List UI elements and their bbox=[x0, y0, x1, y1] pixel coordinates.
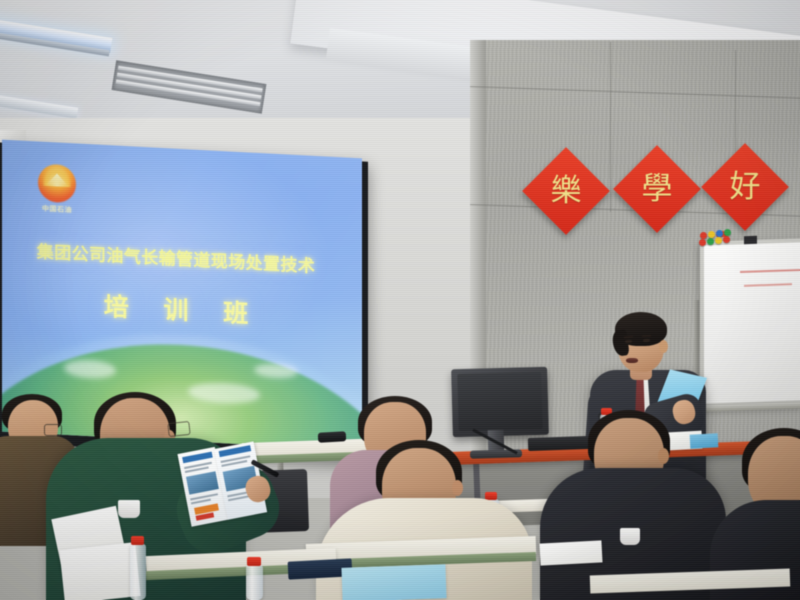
magnet-icon bbox=[723, 236, 730, 243]
attendee-ear bbox=[452, 480, 463, 496]
conference-room-photo: 中国石油 集团公司油气长输管道现场处置技术 培 训 班 樂 學 好 bbox=[0, 0, 800, 600]
glasses-icon bbox=[44, 424, 62, 436]
magnet-icon bbox=[699, 239, 706, 246]
papers bbox=[539, 540, 602, 565]
wall-placard: 學 bbox=[613, 145, 701, 233]
wall-seam-vertical bbox=[610, 42, 611, 212]
magnet-icon bbox=[724, 229, 731, 236]
wall-placard-char: 樂 bbox=[535, 160, 597, 222]
magnet-icon bbox=[708, 231, 715, 238]
wall-placard: 好 bbox=[701, 143, 789, 231]
bottle-cap bbox=[247, 557, 261, 566]
phone-on-desk[interactable] bbox=[318, 431, 346, 442]
wall-placard: 樂 bbox=[522, 147, 610, 235]
papers bbox=[59, 542, 140, 600]
whiteboard bbox=[704, 242, 800, 403]
bottle-cap bbox=[131, 536, 144, 545]
glasses-icon bbox=[167, 421, 190, 437]
wall-placard-char: 好 bbox=[714, 156, 776, 218]
magnet-icon bbox=[700, 232, 707, 239]
attendee-ear bbox=[658, 448, 669, 464]
blue-folder-on-podium bbox=[690, 433, 719, 448]
magnet-icon bbox=[716, 230, 723, 237]
magnet-icon bbox=[715, 237, 722, 244]
monitor-back-panel bbox=[457, 372, 542, 431]
wall-column bbox=[470, 40, 486, 510]
cup[interactable] bbox=[620, 528, 640, 545]
water-bottle[interactable] bbox=[130, 544, 146, 600]
wall-placard-char: 學 bbox=[626, 158, 688, 220]
cup[interactable] bbox=[118, 500, 140, 518]
water-bottle[interactable] bbox=[246, 565, 263, 600]
presenter-ear bbox=[659, 340, 668, 353]
whiteboard-clip bbox=[744, 236, 757, 244]
magnet-icon bbox=[707, 238, 714, 245]
blue-document-on-desk bbox=[341, 564, 446, 600]
presenter-mouth bbox=[626, 358, 638, 363]
